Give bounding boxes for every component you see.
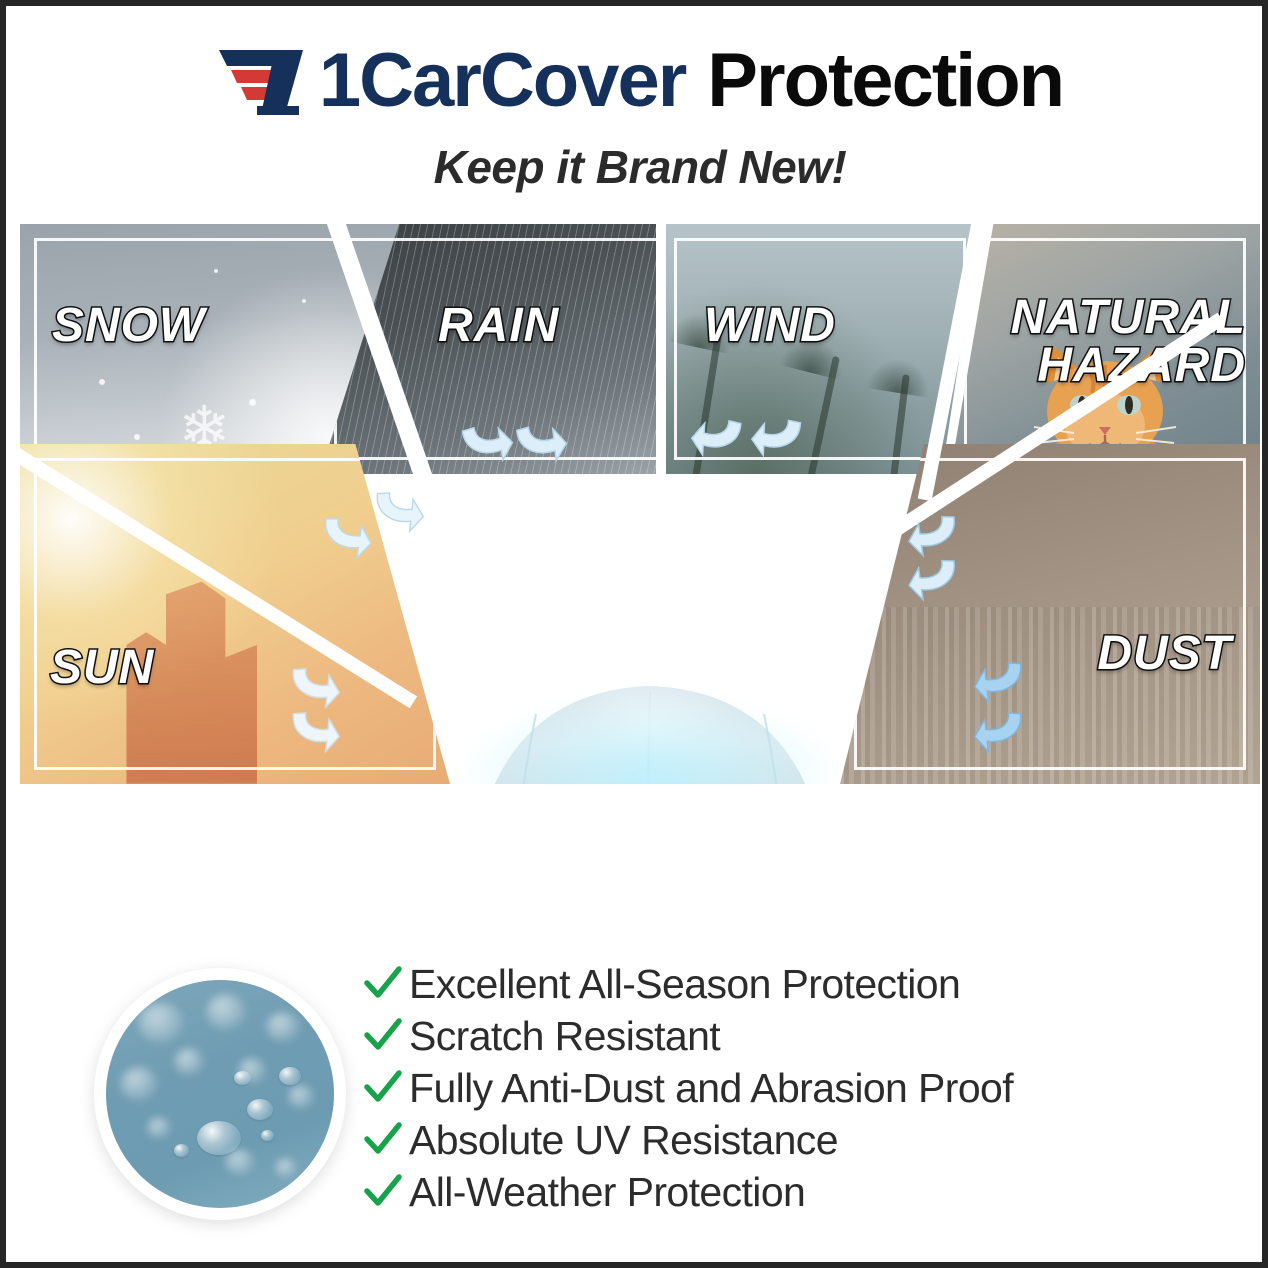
deflection-arrow-icon <box>749 411 805 459</box>
list-item: Fully Anti-Dust and Abrasion Proof <box>357 1062 1227 1114</box>
deflection-arrow-icon <box>457 414 517 467</box>
feature-text: Scratch Resistant <box>409 1016 720 1057</box>
check-icon <box>357 1122 409 1158</box>
panel-label-wind: WIND <box>704 302 836 350</box>
feature-text: Absolute UV Resistance <box>409 1120 838 1161</box>
list-item: Absolute UV Resistance <box>357 1114 1227 1166</box>
check-icon <box>357 1018 409 1054</box>
check-icon <box>357 966 409 1002</box>
list-item: Excellent All-Season Protection <box>357 958 1227 1010</box>
panel-label-sun: SUN <box>50 644 154 692</box>
poster-canvas: 1CarCover Protection Keep it Brand New! … <box>12 12 1268 1268</box>
panel-label-snow: SNOW <box>52 302 205 350</box>
features-section: Excellent All-Season Protection Scratch … <box>12 942 1268 1262</box>
feature-list: Excellent All-Season Protection Scratch … <box>357 958 1227 1218</box>
feature-text: Excellent All-Season Protection <box>409 964 960 1005</box>
deflection-arrow-icon <box>688 410 745 460</box>
feature-text: All-Weather Protection <box>409 1172 805 1213</box>
deflection-arrow-icon <box>286 703 345 754</box>
panel-label-dust: DUST <box>1097 630 1232 678</box>
deflection-arrow-icon <box>370 483 429 534</box>
check-icon <box>357 1070 409 1106</box>
feature-text: Fully Anti-Dust and Abrasion Proof <box>409 1068 1013 1109</box>
deflection-arrow-icon <box>512 415 571 466</box>
water-beading-fabric-closeup-icon <box>74 960 364 1240</box>
image-frame: 1CarCover Protection Keep it Brand New! … <box>0 0 1268 1268</box>
icarcover-wing-logo-icon <box>217 44 317 118</box>
panel-seam <box>656 224 666 494</box>
brand-row: 1CarCover Protection <box>12 36 1268 126</box>
list-item: Scratch Resistant <box>357 1010 1227 1062</box>
deflection-arrow-icon <box>317 508 377 561</box>
list-item: All-Weather Protection <box>357 1166 1227 1218</box>
panel-label-rain: RAIN <box>438 302 559 350</box>
panel-natural-hazard: NATURAL HAZARD <box>950 224 1260 474</box>
deflection-arrow-icon <box>970 703 1029 754</box>
deflection-arrow-icon <box>903 550 963 603</box>
brand-primary-text: 1CarCover <box>319 44 685 118</box>
check-icon <box>357 1174 409 1210</box>
hazard-collage: ❄ SNOW RAIN WIND <box>20 224 1260 784</box>
header: 1CarCover Protection Keep it Brand New! <box>12 12 1268 212</box>
deflection-arrow-icon <box>970 653 1029 704</box>
brand-secondary-text: Protection <box>707 44 1063 118</box>
tagline: Keep it Brand New! <box>12 140 1268 194</box>
highlight-glow <box>440 685 860 784</box>
car-cover-product-image <box>350 654 950 784</box>
